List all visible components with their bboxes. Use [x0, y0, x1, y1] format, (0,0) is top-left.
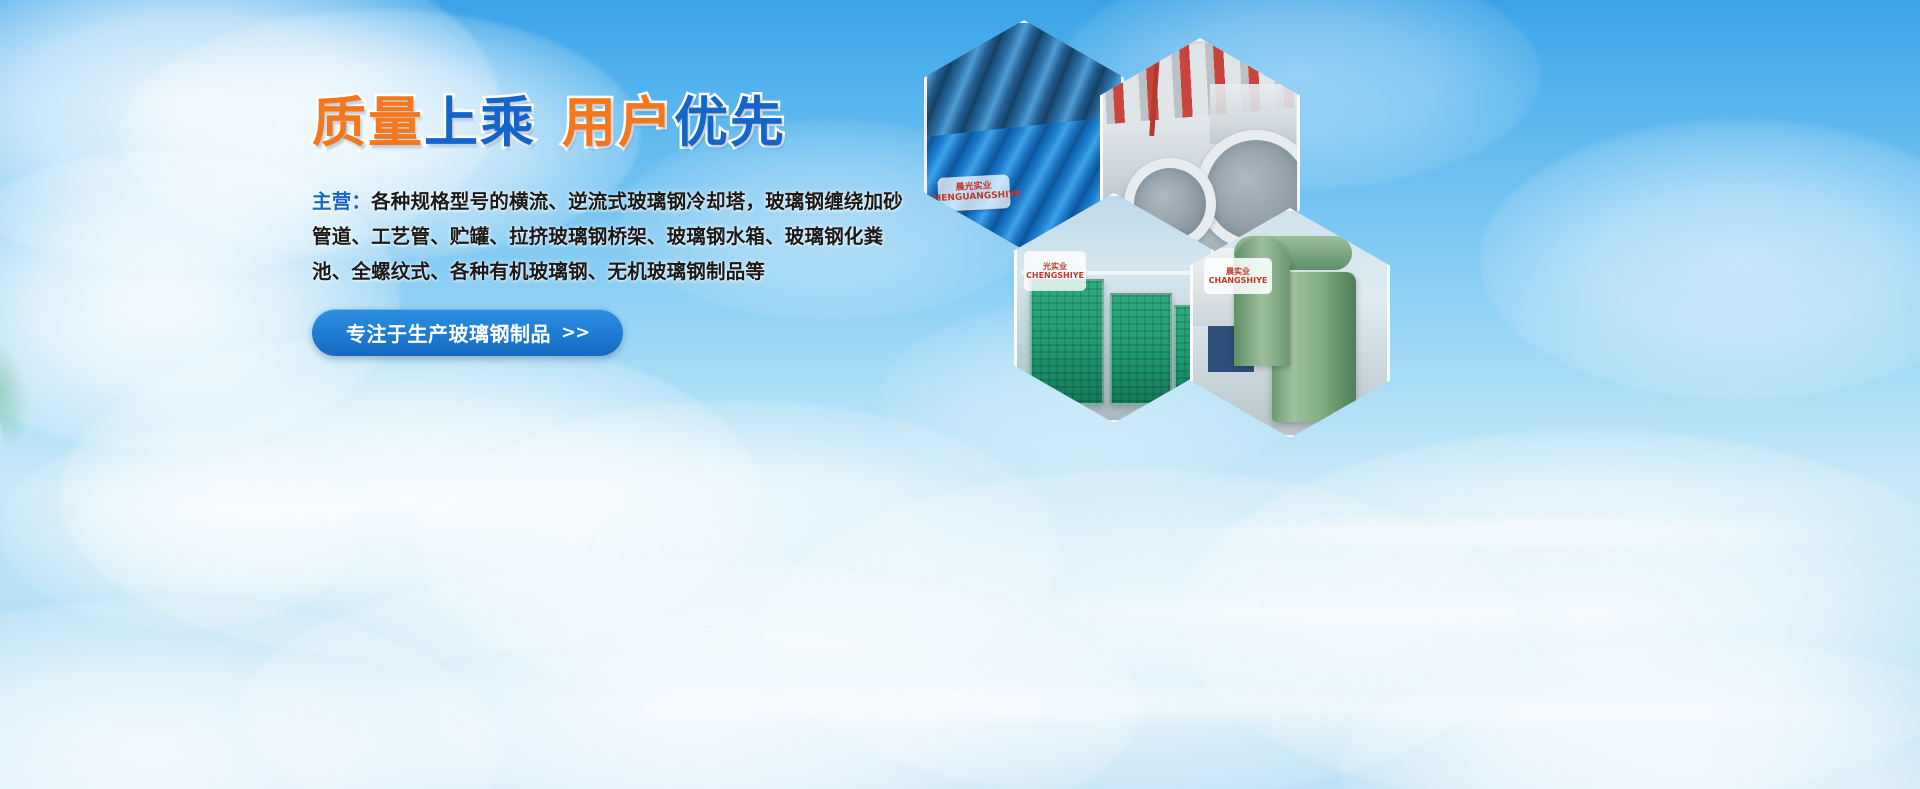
watermark-logo: 光实业 CHENGSHIYE [1024, 251, 1086, 291]
watermark-logo: 晨实业 CHANGSHIYE [1204, 258, 1272, 294]
cloud-streak [520, 690, 1500, 720]
cta-button[interactable]: 专注于生产玻璃钢制品 >> [312, 309, 623, 356]
headline-segment-3: 用户 [562, 96, 674, 150]
headline-segment-1: 质量 [312, 96, 424, 150]
description-lead: 主营： [312, 190, 371, 213]
page-title: 质量上乘用户优先 [312, 96, 932, 150]
description-body: 各种规格型号的横流、逆流式玻璃钢冷却塔，玻璃钢缠绕加砂管道、工艺管、贮罐、拉挤玻… [312, 190, 903, 283]
cloud-streak [1240, 700, 1920, 724]
cloud-shape [0, 600, 500, 789]
cloud-streak [1150, 520, 1890, 546]
watermark-logo: 晨光实业 CHENGUANGSHIYE [937, 174, 1011, 212]
cloud-shape [60, 330, 760, 660]
bottom-haze [0, 559, 1920, 789]
cloud-shape [760, 470, 1520, 789]
headline-segment-4: 优先 [674, 96, 786, 150]
banner-copy: 质量上乘用户优先 主营：各种规格型号的横流、逆流式玻璃钢冷却塔，玻璃钢缠绕加砂管… [312, 96, 932, 356]
double-chevron-right-icon: >> [561, 322, 589, 343]
banner-stage: 质量上乘用户优先 主营：各种规格型号的横流、逆流式玻璃钢冷却塔，玻璃钢缠绕加砂管… [0, 0, 1920, 789]
banner-description: 主营：各种规格型号的横流、逆流式玻璃钢冷却塔，玻璃钢缠绕加砂管道、工艺管、贮罐、… [312, 184, 904, 289]
cloud-shape [0, 430, 360, 630]
cta-label: 专注于生产玻璃钢制品 [346, 318, 551, 347]
headline-segment-2: 上乘 [424, 96, 536, 150]
leaf-sliver [0, 328, 40, 452]
duct-pipe [1234, 236, 1290, 366]
cooling-tower [1110, 293, 1172, 405]
cloud-shape [1480, 120, 1920, 400]
cooling-tower [1030, 279, 1104, 405]
cloud-shape [1180, 430, 1920, 789]
cloud-streak [60, 500, 580, 520]
cloud-shape [420, 400, 1060, 700]
cloud-shape [240, 560, 1140, 789]
product-hex-gallery: 晨光实业 CHENGUANGSHIYE 光实业 CHENGSHIYE [918, 8, 1438, 408]
cloud-shape [1340, 640, 1920, 789]
cloud-streak [940, 600, 1840, 622]
